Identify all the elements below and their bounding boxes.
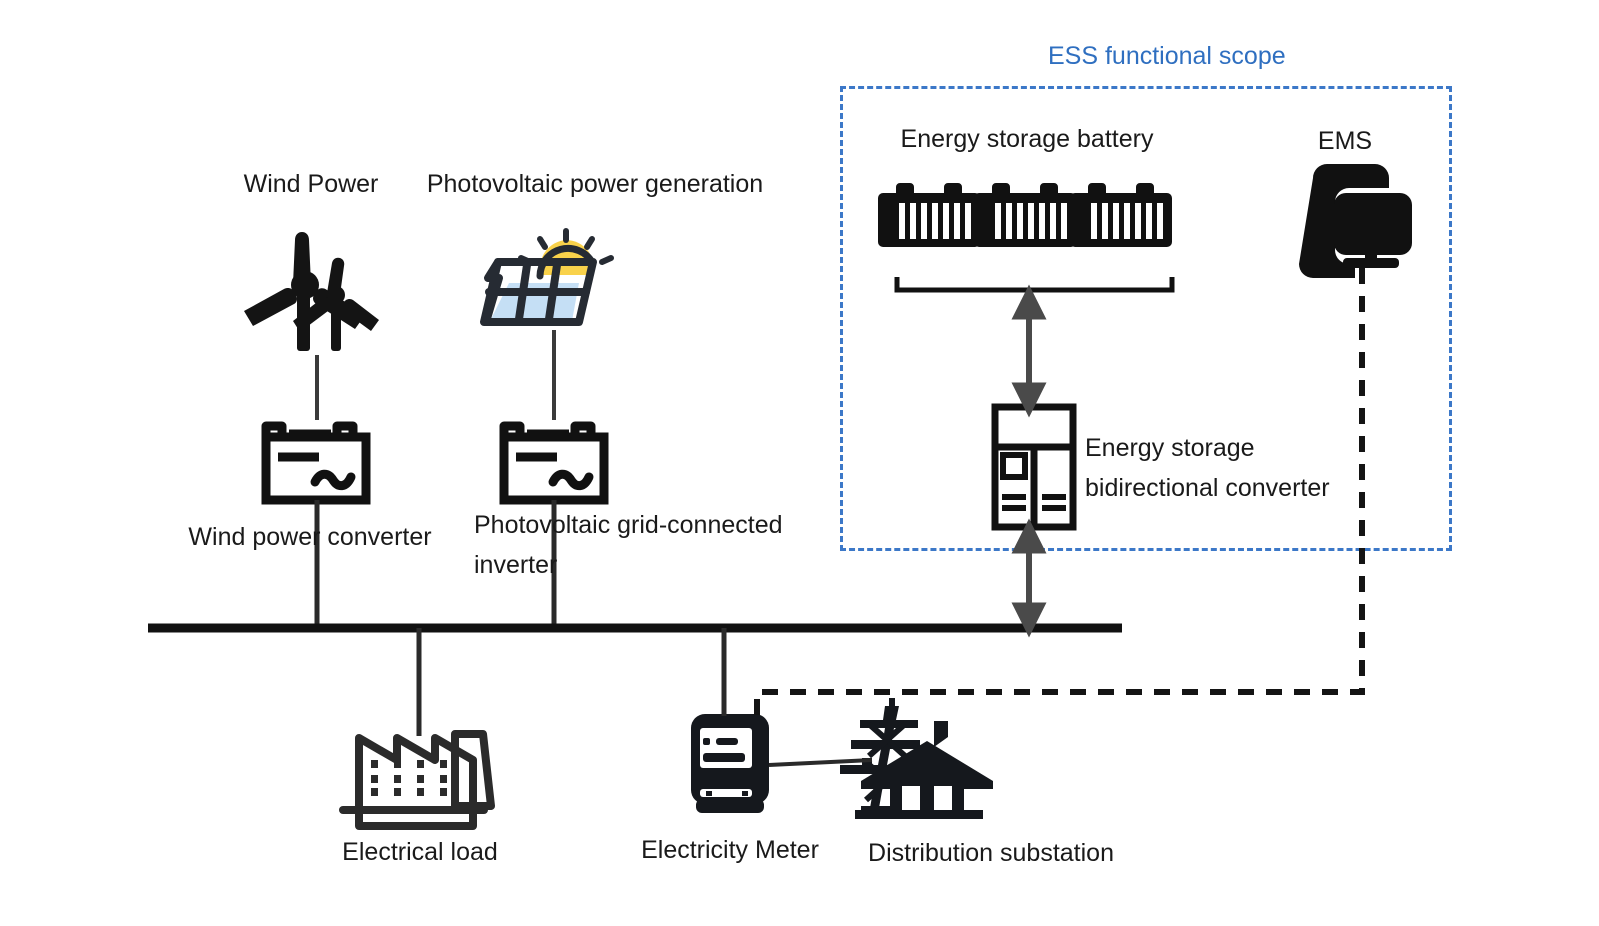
label-ess-battery: Energy storage battery (901, 119, 1154, 159)
label-electrical-load: Electrical load (342, 832, 498, 872)
meter-icon (691, 714, 769, 813)
label-distribution-substation: Distribution substation (868, 833, 1114, 873)
label-pv-inverter: Photovoltaic grid-connected inverter (474, 505, 814, 585)
computer-icon (1299, 164, 1412, 278)
label-wind-power: Wind Power (244, 164, 379, 204)
label-ess-converter: Energy storage bidirectional converter (1085, 428, 1365, 508)
battery-icon (878, 183, 1172, 247)
label-electricity-meter: Electricity Meter (641, 830, 819, 870)
solar-panel-icon (484, 231, 611, 322)
label-wind-converter: Wind power converter (188, 517, 431, 557)
inverter-icon (504, 426, 604, 500)
battery-group-bracket (897, 277, 1172, 290)
diagram-canvas: ESS functional scope (0, 0, 1599, 926)
label-ems: EMS (1318, 121, 1372, 161)
wire-meter-to-substation (769, 760, 872, 765)
converter-icon (266, 426, 366, 500)
factory-icon (343, 734, 491, 826)
label-pv-generation: Photovoltaic power generation (427, 164, 763, 204)
cabinet-icon (995, 407, 1073, 527)
wind-turbine-icon (244, 232, 379, 351)
